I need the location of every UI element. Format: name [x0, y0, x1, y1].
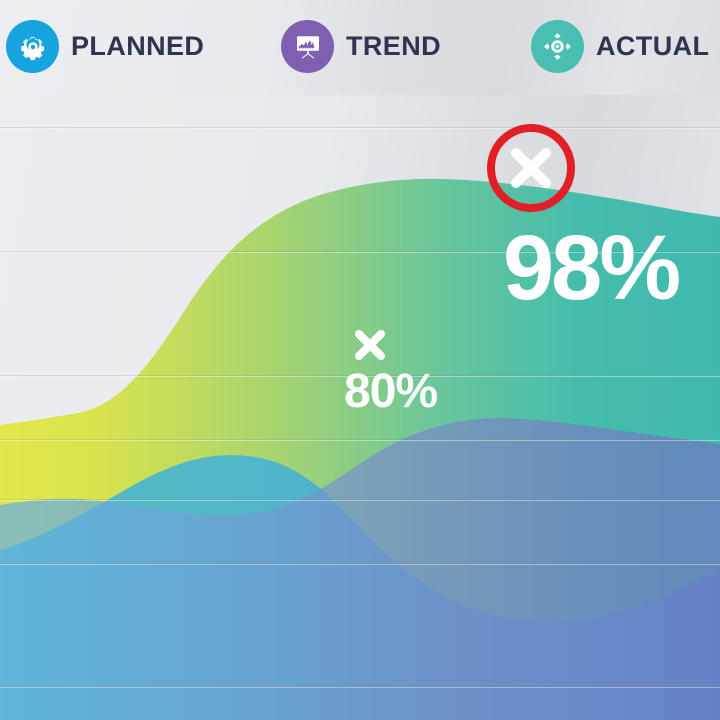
legend-label-trend: TREND: [346, 31, 441, 62]
trend-value-label: 80%: [344, 368, 437, 416]
legend-item-trend[interactable]: TREND: [281, 20, 441, 73]
gear-icon: [18, 32, 48, 62]
actual-value-label: 98%: [503, 222, 678, 314]
data-point-marker-trend[interactable]: [350, 325, 390, 365]
legend-label-actual: ACTUAL: [596, 31, 709, 62]
x-marker-icon: [350, 325, 390, 365]
legend-badge-planned: [6, 20, 59, 73]
legend-item-planned[interactable]: PLANNED: [6, 20, 204, 73]
highlight-ring-annotation: [487, 124, 575, 212]
easel-chart-icon: [293, 32, 323, 62]
chart-legend: PLANNED TREND: [0, 0, 720, 95]
legend-item-actual[interactable]: ACTUAL: [531, 20, 709, 73]
legend-badge-actual: [531, 20, 584, 73]
chart-screenshot: 98% 80% PLANNED: [0, 0, 720, 720]
legend-label-planned: PLANNED: [71, 31, 204, 62]
legend-badge-trend: [281, 20, 334, 73]
target-icon: [542, 31, 573, 62]
